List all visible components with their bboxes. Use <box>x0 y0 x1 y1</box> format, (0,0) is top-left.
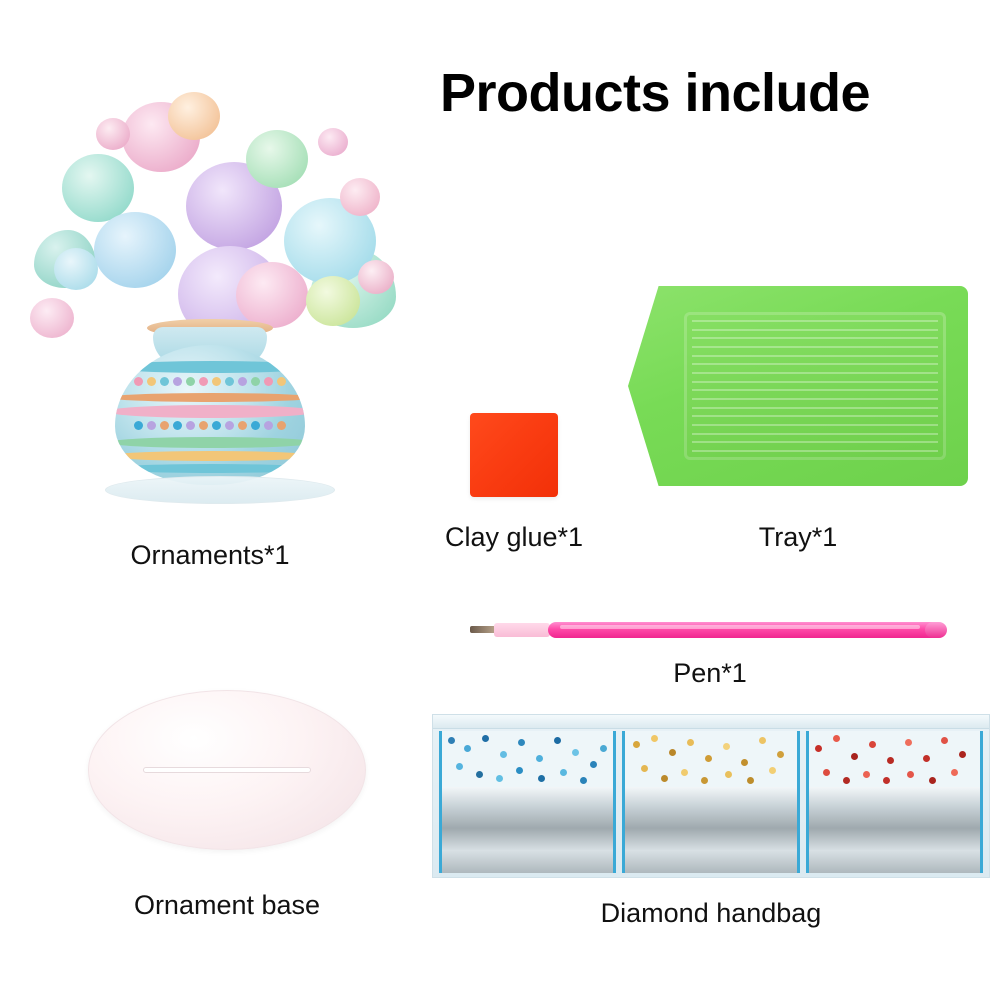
ornament-base-caption: Ornament base <box>77 890 377 921</box>
pen-metal-tip <box>470 626 496 633</box>
ornaments-product-image <box>10 80 410 520</box>
vase-band <box>115 361 305 373</box>
base-insert-slot <box>143 767 311 773</box>
flower-blob <box>94 212 176 288</box>
tray-inner-well <box>684 312 946 460</box>
clay-glue-product-image <box>470 413 558 497</box>
pen-ferrule <box>494 623 550 637</box>
bag-foil-back <box>809 787 980 873</box>
flower-blob <box>246 130 308 188</box>
flower-blob <box>318 128 348 156</box>
vase-band <box>115 437 305 448</box>
acrylic-stand-plate <box>105 476 335 504</box>
vase-band <box>115 405 305 418</box>
pen-end-cap <box>925 622 947 638</box>
tray-product-image <box>628 286 968 486</box>
diamond-handbag-product-image <box>432 714 990 878</box>
flower-blob <box>62 154 134 222</box>
vase-band <box>115 393 305 402</box>
flower-blob <box>168 92 220 140</box>
pen-highlight <box>560 625 920 629</box>
vase-band <box>115 464 305 473</box>
ceramic-vase <box>115 305 305 485</box>
tray-groove-lines <box>692 320 938 452</box>
vase-body <box>115 345 305 485</box>
flower-blob <box>54 248 98 290</box>
bag-foil-back <box>625 787 796 873</box>
flower-blob <box>340 178 380 216</box>
tray-caption: Tray*1 <box>678 522 918 553</box>
clay-glue-caption: Clay glue*1 <box>404 522 624 553</box>
bead-packet <box>806 731 983 873</box>
bag-foil-back <box>442 787 613 873</box>
bead-packet <box>439 731 616 873</box>
bead-fill-gold <box>625 731 796 787</box>
ornaments-caption: Ornaments*1 <box>10 540 410 571</box>
bead-packet <box>622 731 799 873</box>
ornament-base-product-image <box>88 690 366 850</box>
vase-band <box>115 451 305 461</box>
vase-bead-row <box>115 377 305 389</box>
pen-product-image <box>470 612 950 648</box>
flower-blob <box>30 298 74 338</box>
bead-fill-blue <box>442 731 613 787</box>
flower-blob <box>306 276 360 326</box>
bead-fill-red <box>809 731 980 787</box>
diamond-handbag-caption: Diamond handbag <box>432 898 990 929</box>
pen-caption: Pen*1 <box>590 658 830 689</box>
product-include-poster: Products include <box>0 0 1001 1001</box>
flower-blob <box>358 260 394 294</box>
page-title: Products include <box>440 62 870 124</box>
bag-seal-strip <box>433 715 989 729</box>
bag-packet-row <box>439 731 983 873</box>
flower-blob <box>96 118 130 150</box>
vase-bead-row <box>115 421 305 433</box>
